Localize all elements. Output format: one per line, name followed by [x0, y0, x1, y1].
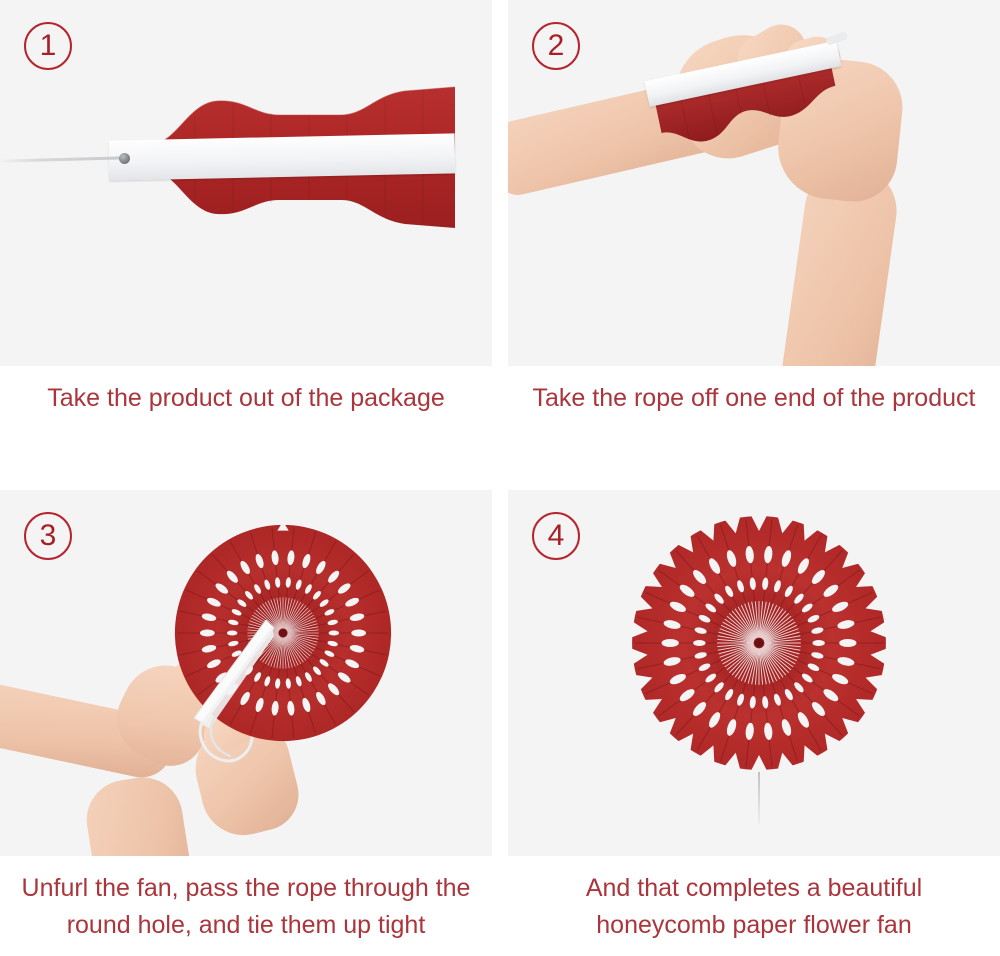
- step-3-caption-area: Unfurl the fan, pass the rope through th…: [0, 856, 492, 956]
- step-3-caption-text: Unfurl the fan, pass the rope through th…: [11, 870, 481, 944]
- eyelet-hole: [119, 153, 130, 164]
- step-2-caption-text: Take the rope off one end of the product: [533, 380, 976, 417]
- step-3-image: 3: [0, 490, 492, 856]
- instruction-sheet: 1 Take the product out of the package: [0, 0, 1000, 956]
- rope-loop: [196, 716, 256, 768]
- step-panel-3: 3 Unfurl the fan, pass the rope through …: [0, 490, 492, 956]
- white-card-strip: [109, 133, 456, 180]
- step-1-badge: 1: [24, 22, 72, 70]
- hanging-string: [0, 156, 125, 162]
- step-4-image: 4: [508, 490, 1000, 856]
- step-4-badge: 4: [532, 512, 580, 560]
- step-2-badge: 2: [532, 22, 580, 70]
- step-panel-2: 2 Take the rope off one end of the produ…: [508, 0, 1000, 466]
- step-2-caption-area: Take the rope off one end of the product: [508, 366, 1000, 466]
- step-1-caption-text: Take the product out of the package: [47, 380, 445, 417]
- step-3-badge: 3: [24, 512, 72, 560]
- step-4-caption-text: And that completes a beautiful honeycomb…: [519, 870, 989, 944]
- white-card-tails: [188, 620, 274, 730]
- right-forearm: [81, 772, 207, 856]
- step-1-image: 1: [0, 0, 492, 366]
- hanging-string: [758, 772, 760, 824]
- step-2-image: 2: [508, 0, 1000, 366]
- folded-fan-pack: [95, 85, 455, 230]
- step-4-caption-area: And that completes a beautiful honeycomb…: [508, 856, 1000, 956]
- step-panel-4: 4 And that completes a beautiful honeyco…: [508, 490, 1000, 956]
- step-1-caption-area: Take the product out of the package: [0, 366, 492, 466]
- step-panel-1: 1 Take the product out of the package: [0, 0, 492, 466]
- finished-paper-fan: [624, 508, 894, 778]
